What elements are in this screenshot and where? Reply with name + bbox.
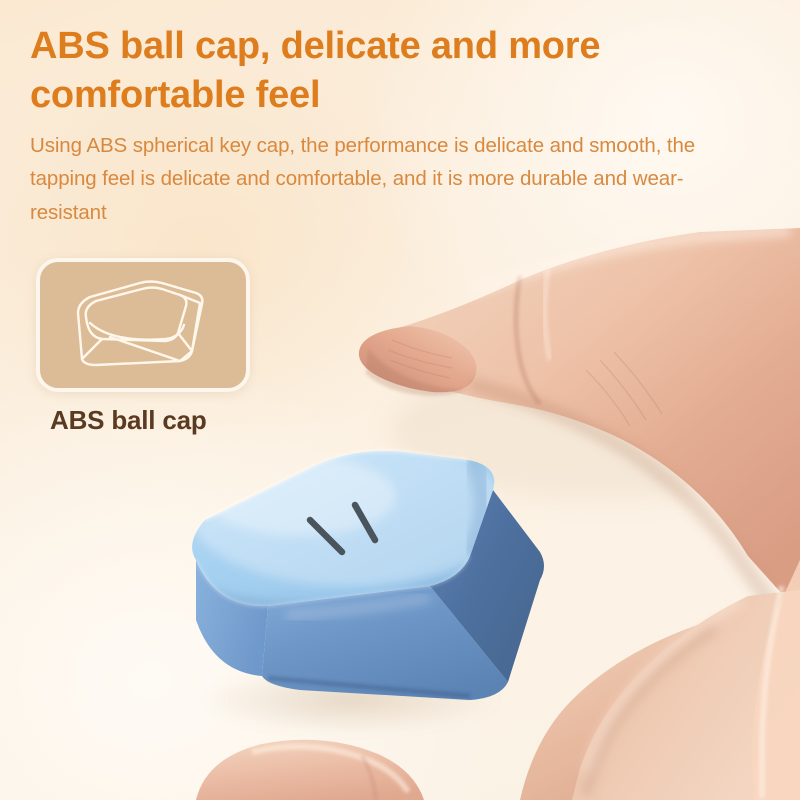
feature-badge-card: [36, 258, 250, 392]
copy-block: ABS ball cap, delicate and more comforta…: [30, 22, 745, 229]
middle-finger: [520, 590, 800, 800]
page-title: ABS ball cap, delicate and more comforta…: [30, 22, 745, 119]
page-subcopy: Using ABS spherical key cap, the perform…: [30, 129, 742, 229]
ring-finger-edge: [752, 560, 800, 800]
product-feature-image: ABS ball cap, delicate and more comforta…: [0, 0, 800, 800]
feature-badge: ABS ball cap: [36, 258, 250, 436]
feature-badge-label: ABS ball cap: [36, 405, 250, 436]
abs-spherical-keycap: [190, 438, 544, 700]
index-finger-pointing: [359, 228, 800, 616]
thumb-tip: [196, 740, 424, 800]
keycap-legend-marks: [310, 505, 375, 552]
keycap-line-art-icon: [68, 277, 218, 373]
keycap-drop-shadow: [200, 666, 500, 734]
